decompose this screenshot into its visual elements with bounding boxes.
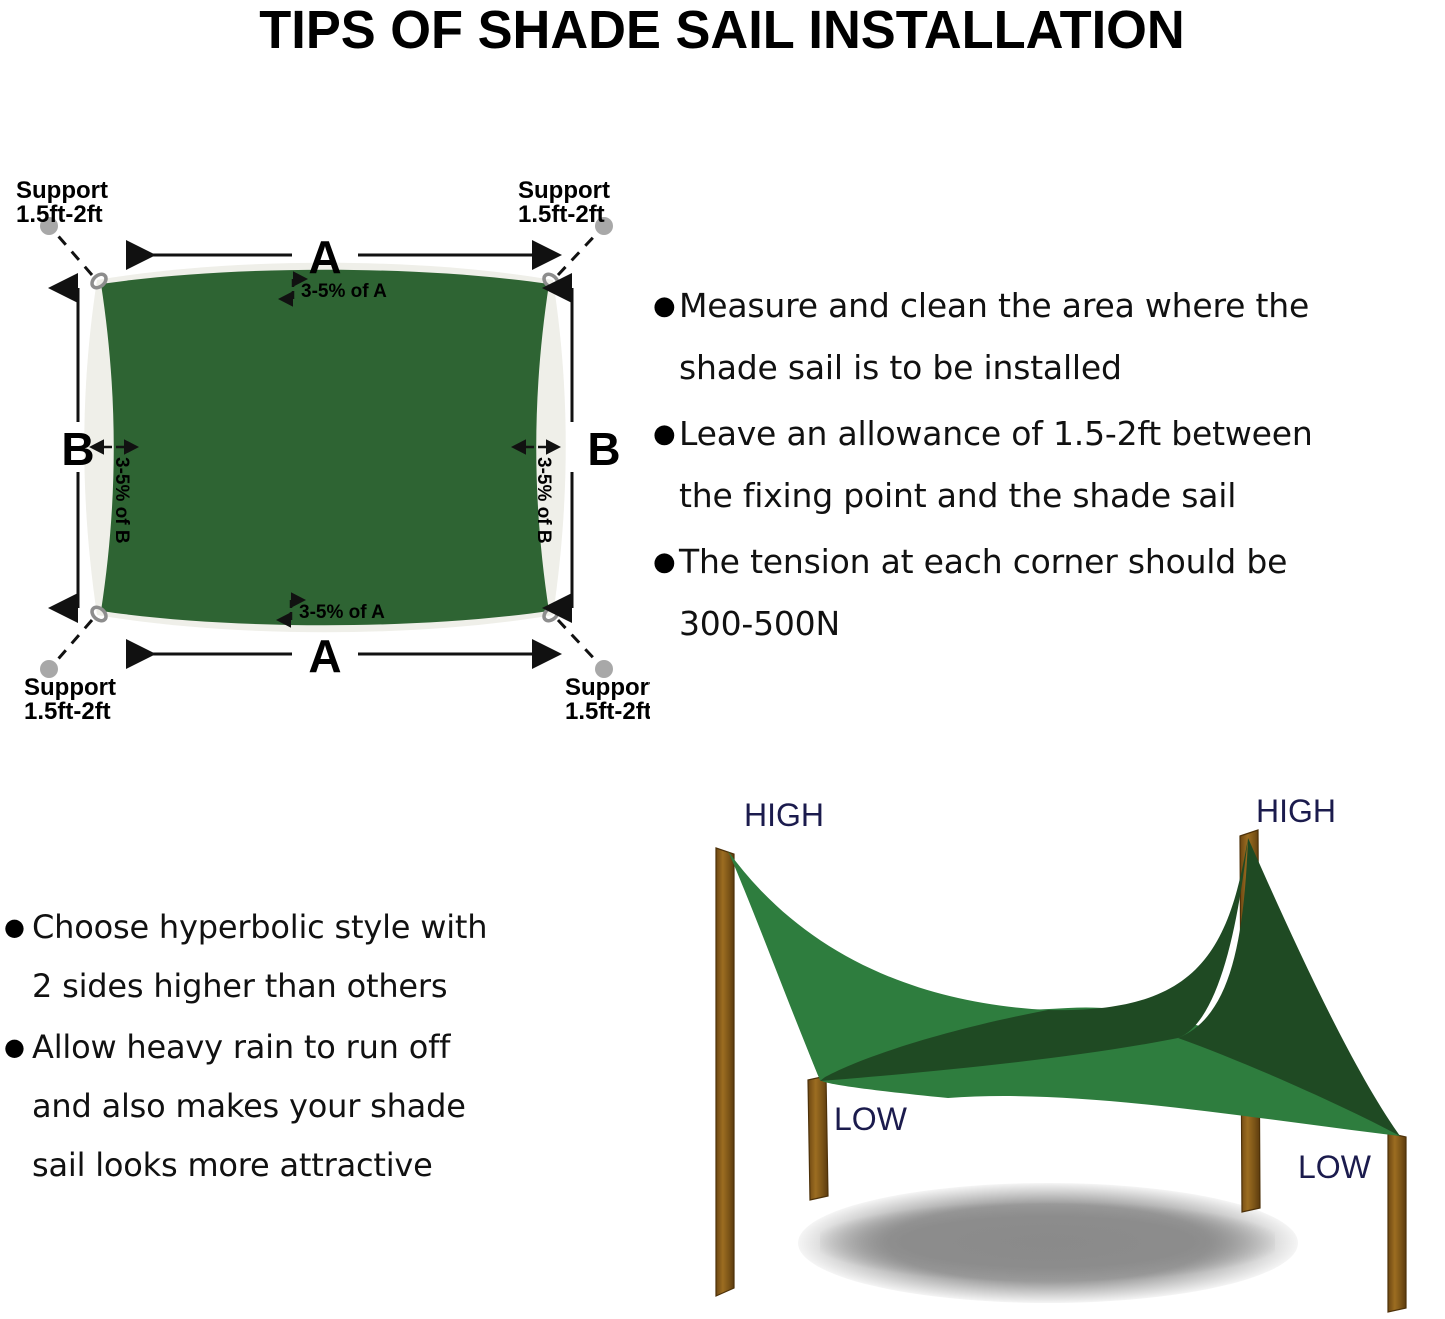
bullet-icon: ● [0, 1018, 32, 1077]
hyperbolic-sail-diagram: HIGH HIGH LOW LOW [648, 788, 1445, 1319]
style-tip-line: Choose hyperbolic style with [32, 898, 487, 957]
support-label-top-right: Support 1.5ft-2ft [518, 177, 610, 228]
ground-shadow-body [820, 1203, 1275, 1281]
sag-right-label: 3-5% of B [533, 457, 554, 544]
tip-line: The tension at each corner should be [679, 531, 1287, 593]
dimension-b-left-label: B [61, 423, 94, 475]
list-item: ● Allow heavy rain to run off and also m… [0, 1018, 625, 1195]
style-tips-list: ● Choose hyperbolic style with 2 sides h… [0, 898, 625, 1197]
label-high-left: HIGH [744, 797, 824, 833]
rectangular-sail-diagram: A 3-5% of A A 3-5% of A B 3-5% [0, 160, 650, 730]
tip-line: the fixing point and the shade sail [679, 465, 1313, 527]
bullet-icon: ● [0, 898, 32, 957]
list-item: ● Choose hyperbolic style with 2 sides h… [0, 898, 625, 1016]
list-item: ● Leave an allowance of 1.5-2ft between … [645, 403, 1445, 527]
support-label-bottom-left: Support 1.5ft-2ft [24, 674, 116, 725]
bullet-icon: ● [645, 531, 679, 593]
support-label-text: Support [518, 177, 610, 204]
label-high-right: HIGH [1256, 793, 1336, 829]
style-tip-line: Allow heavy rain to run off [32, 1018, 466, 1077]
dimension-a-bottom-label: A [308, 630, 341, 682]
support-label-top-left: Support 1.5ft-2ft [16, 177, 108, 228]
post-low-right [1388, 1133, 1406, 1312]
support-label-text: Support [24, 674, 116, 701]
page-title: TIPS OF SHADE SAIL INSTALLATION [260, 0, 1185, 61]
style-tip-line: and also makes your shade [32, 1077, 466, 1136]
sag-top-label: 3-5% of A [301, 281, 387, 302]
support-label-text: Support [16, 177, 108, 204]
support-value-text: 1.5ft-2ft [565, 698, 650, 725]
support-label-text: Support [565, 674, 650, 701]
post-low-left [808, 1076, 828, 1200]
support-value-text: 1.5ft-2ft [518, 201, 605, 228]
bullet-icon: ● [645, 403, 679, 465]
list-item: ● The tension at each corner should be 3… [645, 531, 1445, 655]
sag-bottom-label: 3-5% of A [299, 602, 385, 623]
tip-line: Leave an allowance of 1.5-2ft between [679, 403, 1313, 465]
shade-sail-body [101, 270, 549, 626]
dimension-a-top-label: A [308, 231, 341, 283]
tip-line: shade sail is to be installed [679, 337, 1309, 399]
style-tip-line: 2 sides higher than others [32, 957, 487, 1016]
post-high-left [716, 848, 734, 1296]
installation-tips-list: ● Measure and clean the area where the s… [645, 275, 1445, 659]
list-item: ● Measure and clean the area where the s… [645, 275, 1445, 399]
label-low-right: LOW [1298, 1149, 1372, 1185]
style-tip-line: sail looks more attractive [32, 1136, 466, 1195]
page-header: TIPS OF SHADE SAIL INSTALLATION [0, 0, 1445, 60]
dimension-b-right-label: B [587, 423, 620, 475]
tip-line: Measure and clean the area where the [679, 275, 1309, 337]
support-label-bottom-right: Support 1.5ft-2ft [565, 674, 650, 725]
support-value-text: 1.5ft-2ft [16, 201, 103, 228]
bullet-icon: ● [645, 275, 679, 337]
sag-left-label: 3-5% of B [111, 457, 132, 544]
label-low-left: LOW [834, 1101, 908, 1137]
support-value-text: 1.5ft-2ft [24, 698, 111, 725]
tip-line: 300-500N [679, 593, 1287, 655]
